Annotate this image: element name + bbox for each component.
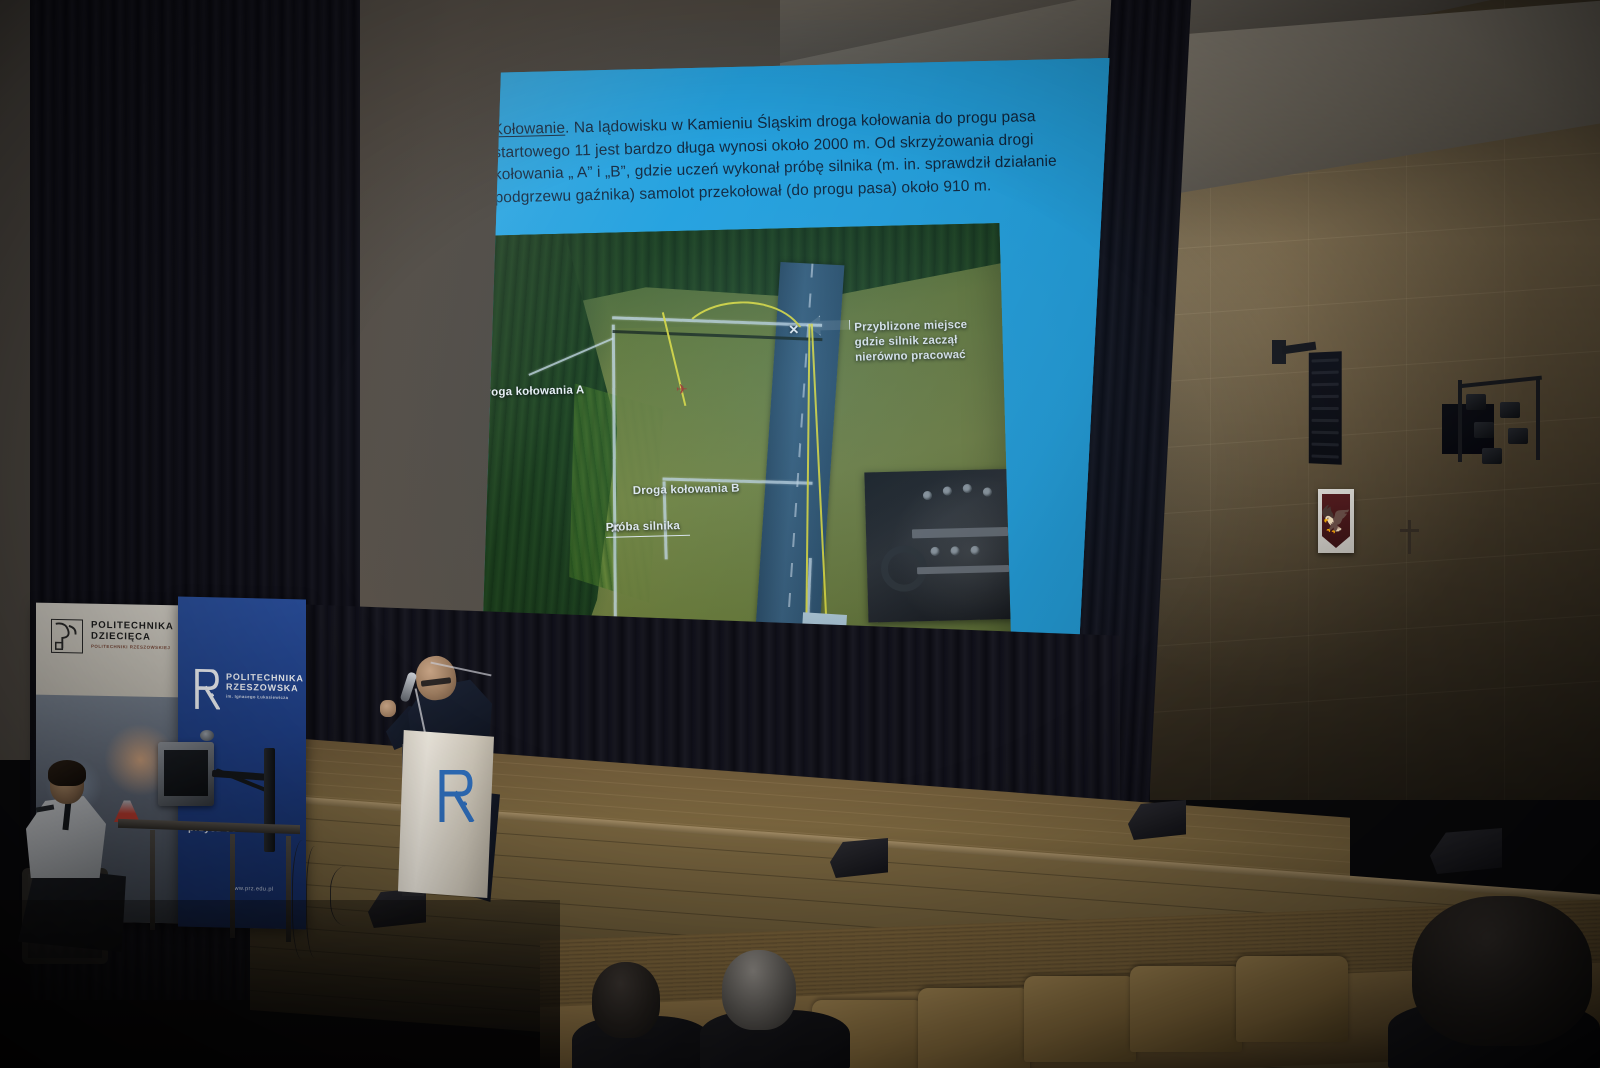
- camera-post: [264, 748, 275, 852]
- auditorium-scene: Kołowanie. Na lądowisku w Kamieniu Śląsk…: [0, 0, 1600, 1068]
- instrument-panel-bar2: [917, 565, 1009, 574]
- banner-blue-line2: RZESZOWSKA: [226, 682, 304, 694]
- aircraft-symbol: ✈: [676, 381, 688, 398]
- prz-monogram-icon: [438, 770, 476, 822]
- crucifix-icon: [1408, 520, 1411, 554]
- foreground-floor-shadow: [0, 900, 560, 1068]
- banner-blue-logo: POLITECHNIKA RZESZOWSKA im. Ignacego Łuk…: [194, 669, 300, 715]
- cockpit-knob: [970, 546, 979, 555]
- annotation-engine-test: Próba silnika: [606, 519, 690, 538]
- speaker-driver-slot: [1312, 358, 1339, 362]
- par-can-icon: [1466, 394, 1486, 410]
- stage-monitor-wedge: [1430, 828, 1502, 874]
- audience-member-head: [722, 950, 796, 1030]
- auditorium-seat[interactable]: [1024, 976, 1136, 1062]
- banner-white-logo: POLITECHNIKA DZIECIĘCA POLITECHNIKI RZES…: [51, 617, 181, 674]
- speaker-driver-slot: [1312, 371, 1339, 375]
- line-array-speaker-icon: [1309, 351, 1342, 465]
- instrument-panel-bar: [912, 527, 1008, 538]
- cockpit-knob: [923, 491, 932, 500]
- banner-white-text: POLITECHNIKA DZIECIĘCA POLITECHNIKI RZES…: [91, 620, 174, 651]
- fault-x-marker: ✕: [788, 322, 799, 338]
- par-can-icon: [1482, 448, 1502, 464]
- auditorium-seat[interactable]: [1130, 966, 1242, 1052]
- eagle-glyph: 🦅: [1320, 506, 1352, 532]
- cockpit-knob: [983, 487, 992, 496]
- par-can-icon: [1500, 402, 1520, 418]
- banner-blue-url: www.prz.edu.pl: [230, 886, 274, 893]
- truss-bar: [1458, 376, 1542, 389]
- par-can-icon: [1474, 422, 1494, 438]
- stage-light-truss-icon: [1452, 376, 1562, 476]
- cockpit-knob: [950, 546, 959, 555]
- banner-blue-line3: im. Ignacego Łukasiewicza: [226, 694, 304, 701]
- truss-bar: [1536, 378, 1540, 460]
- speaker-driver-slot: [1312, 383, 1339, 387]
- speaker-driver-slot: [1312, 431, 1339, 435]
- speaker-driver-slot: [1312, 454, 1339, 458]
- audience-member-head: [1412, 896, 1592, 1046]
- audience-member-head: [592, 962, 660, 1038]
- emblem-field: 🦅: [1322, 494, 1350, 548]
- banner-white-line2: DZIECIĘCA: [91, 631, 174, 644]
- annotation-taxiway-b: Droga kołowania B: [633, 481, 763, 499]
- auditorium-seat[interactable]: [1236, 956, 1348, 1042]
- child-engineer-mark-icon: [51, 619, 83, 654]
- banner-white-line3: POLITECHNIKI RZESZOWSKIEJ: [91, 644, 174, 651]
- truss-bar: [1458, 380, 1462, 462]
- auditorium-seat[interactable]: [918, 988, 1030, 1068]
- cockpit-photo-inset: [864, 469, 1012, 623]
- speaker-driver-slot: [1312, 395, 1339, 398]
- annotation-taxiway-a: Droga kołowania A: [482, 383, 608, 401]
- cockpit-knob: [943, 486, 952, 495]
- operator-hair: [48, 760, 86, 786]
- video-monitor-icon: [158, 742, 214, 806]
- speaker-driver-slot: [1312, 407, 1339, 410]
- presenter-hand: [380, 700, 396, 717]
- par-can-icon: [1508, 428, 1528, 444]
- podium: [398, 730, 494, 898]
- cockpit-knob: [963, 484, 972, 493]
- polish-eagle-emblem-icon: 🦅: [1318, 489, 1354, 553]
- banner-blue-text: POLITECHNIKA RZESZOWSKA im. Ignacego Łuk…: [226, 672, 304, 701]
- speaker-driver-slot: [1312, 419, 1339, 422]
- camera-icon: [200, 730, 214, 741]
- slide-body-text: Kołowanie. Na lądowisku w Kamieniu Śląsk…: [492, 105, 1074, 210]
- annotation-engine-fault: Przyblizone miejsce gdzie silnik zaczął …: [854, 317, 987, 365]
- cockpit-knob: [930, 547, 939, 556]
- prz-monogram-icon: [194, 669, 220, 710]
- speaker-driver-slot: [1312, 443, 1339, 447]
